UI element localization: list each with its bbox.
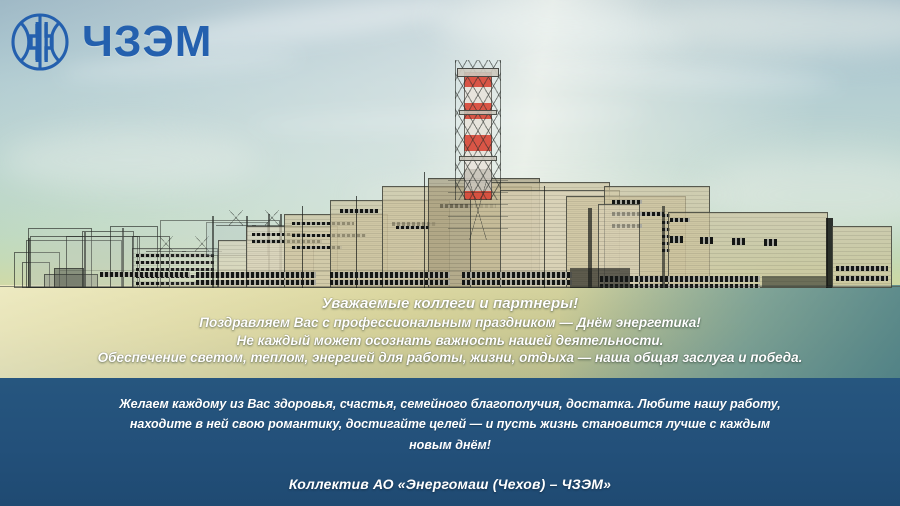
chimney-ring [459, 110, 497, 115]
chimney-ring [459, 156, 497, 161]
chzem-circular-emblem-icon [8, 10, 72, 74]
greeting-line-3: Не каждый может осознать важность нашей … [0, 332, 900, 350]
plant-window-strip [732, 238, 745, 245]
plant-window-strip [836, 266, 888, 271]
plant-window-strip [764, 239, 777, 246]
brand-name: ЧЗЭМ [82, 20, 212, 64]
signature-line: Коллектив АО «Энергомаш (Чехов) – ЧЗЭМ» [0, 476, 900, 492]
greeting-line-2: Поздравляем Вас с профессиональным празд… [0, 314, 900, 332]
plant-base-window-band [196, 272, 316, 278]
greeting-message: Уважаемые коллеги и партнеры! Поздравляе… [0, 294, 900, 367]
chimney-support-legs [448, 180, 508, 240]
plant-fence-line [60, 270, 620, 271]
plant-roof-truss [216, 210, 256, 226]
plant-dark-recess [570, 268, 630, 288]
plant-base-window-band [196, 280, 316, 285]
plant-pipe-column [544, 186, 545, 288]
plant-chimney-stack [455, 60, 501, 200]
chimney-cap [457, 68, 499, 77]
wish-text: Желаем каждому из Вас здоровья, счастья,… [110, 394, 790, 455]
plant-fence-line [0, 286, 900, 287]
chimney-lattice-frame [455, 60, 501, 200]
plant-base-window-band [330, 272, 450, 278]
plant-wireframe-frame [54, 268, 84, 288]
plant-window-strip [700, 237, 713, 244]
plant-base-window-band [100, 272, 190, 277]
plant-base-window-band [462, 280, 572, 285]
plant-base-window-band [462, 272, 572, 278]
greeting-line-1: Уважаемые коллеги и партнеры! [0, 294, 900, 314]
plant-pipe-column [302, 206, 303, 288]
plant-window-strip [340, 209, 378, 213]
plant-window-strip [670, 218, 690, 222]
greeting-line-4: Обеспечение светом, теплом, энергией для… [0, 349, 900, 367]
plant-pipe-column [356, 196, 357, 288]
brand-logo[interactable]: ЧЗЭМ [8, 10, 212, 74]
plant-window-strip [670, 236, 683, 243]
plant-base-window-band [330, 280, 450, 285]
plant-window-strip [836, 276, 888, 281]
plant-wireframe-column [28, 238, 30, 288]
plant-pipe-column [588, 208, 592, 288]
plant-pipe-column [662, 206, 665, 288]
greeting-slide: ЧЗЭМ Уважаемые коллеги и партнеры! Поздр… [0, 0, 900, 506]
